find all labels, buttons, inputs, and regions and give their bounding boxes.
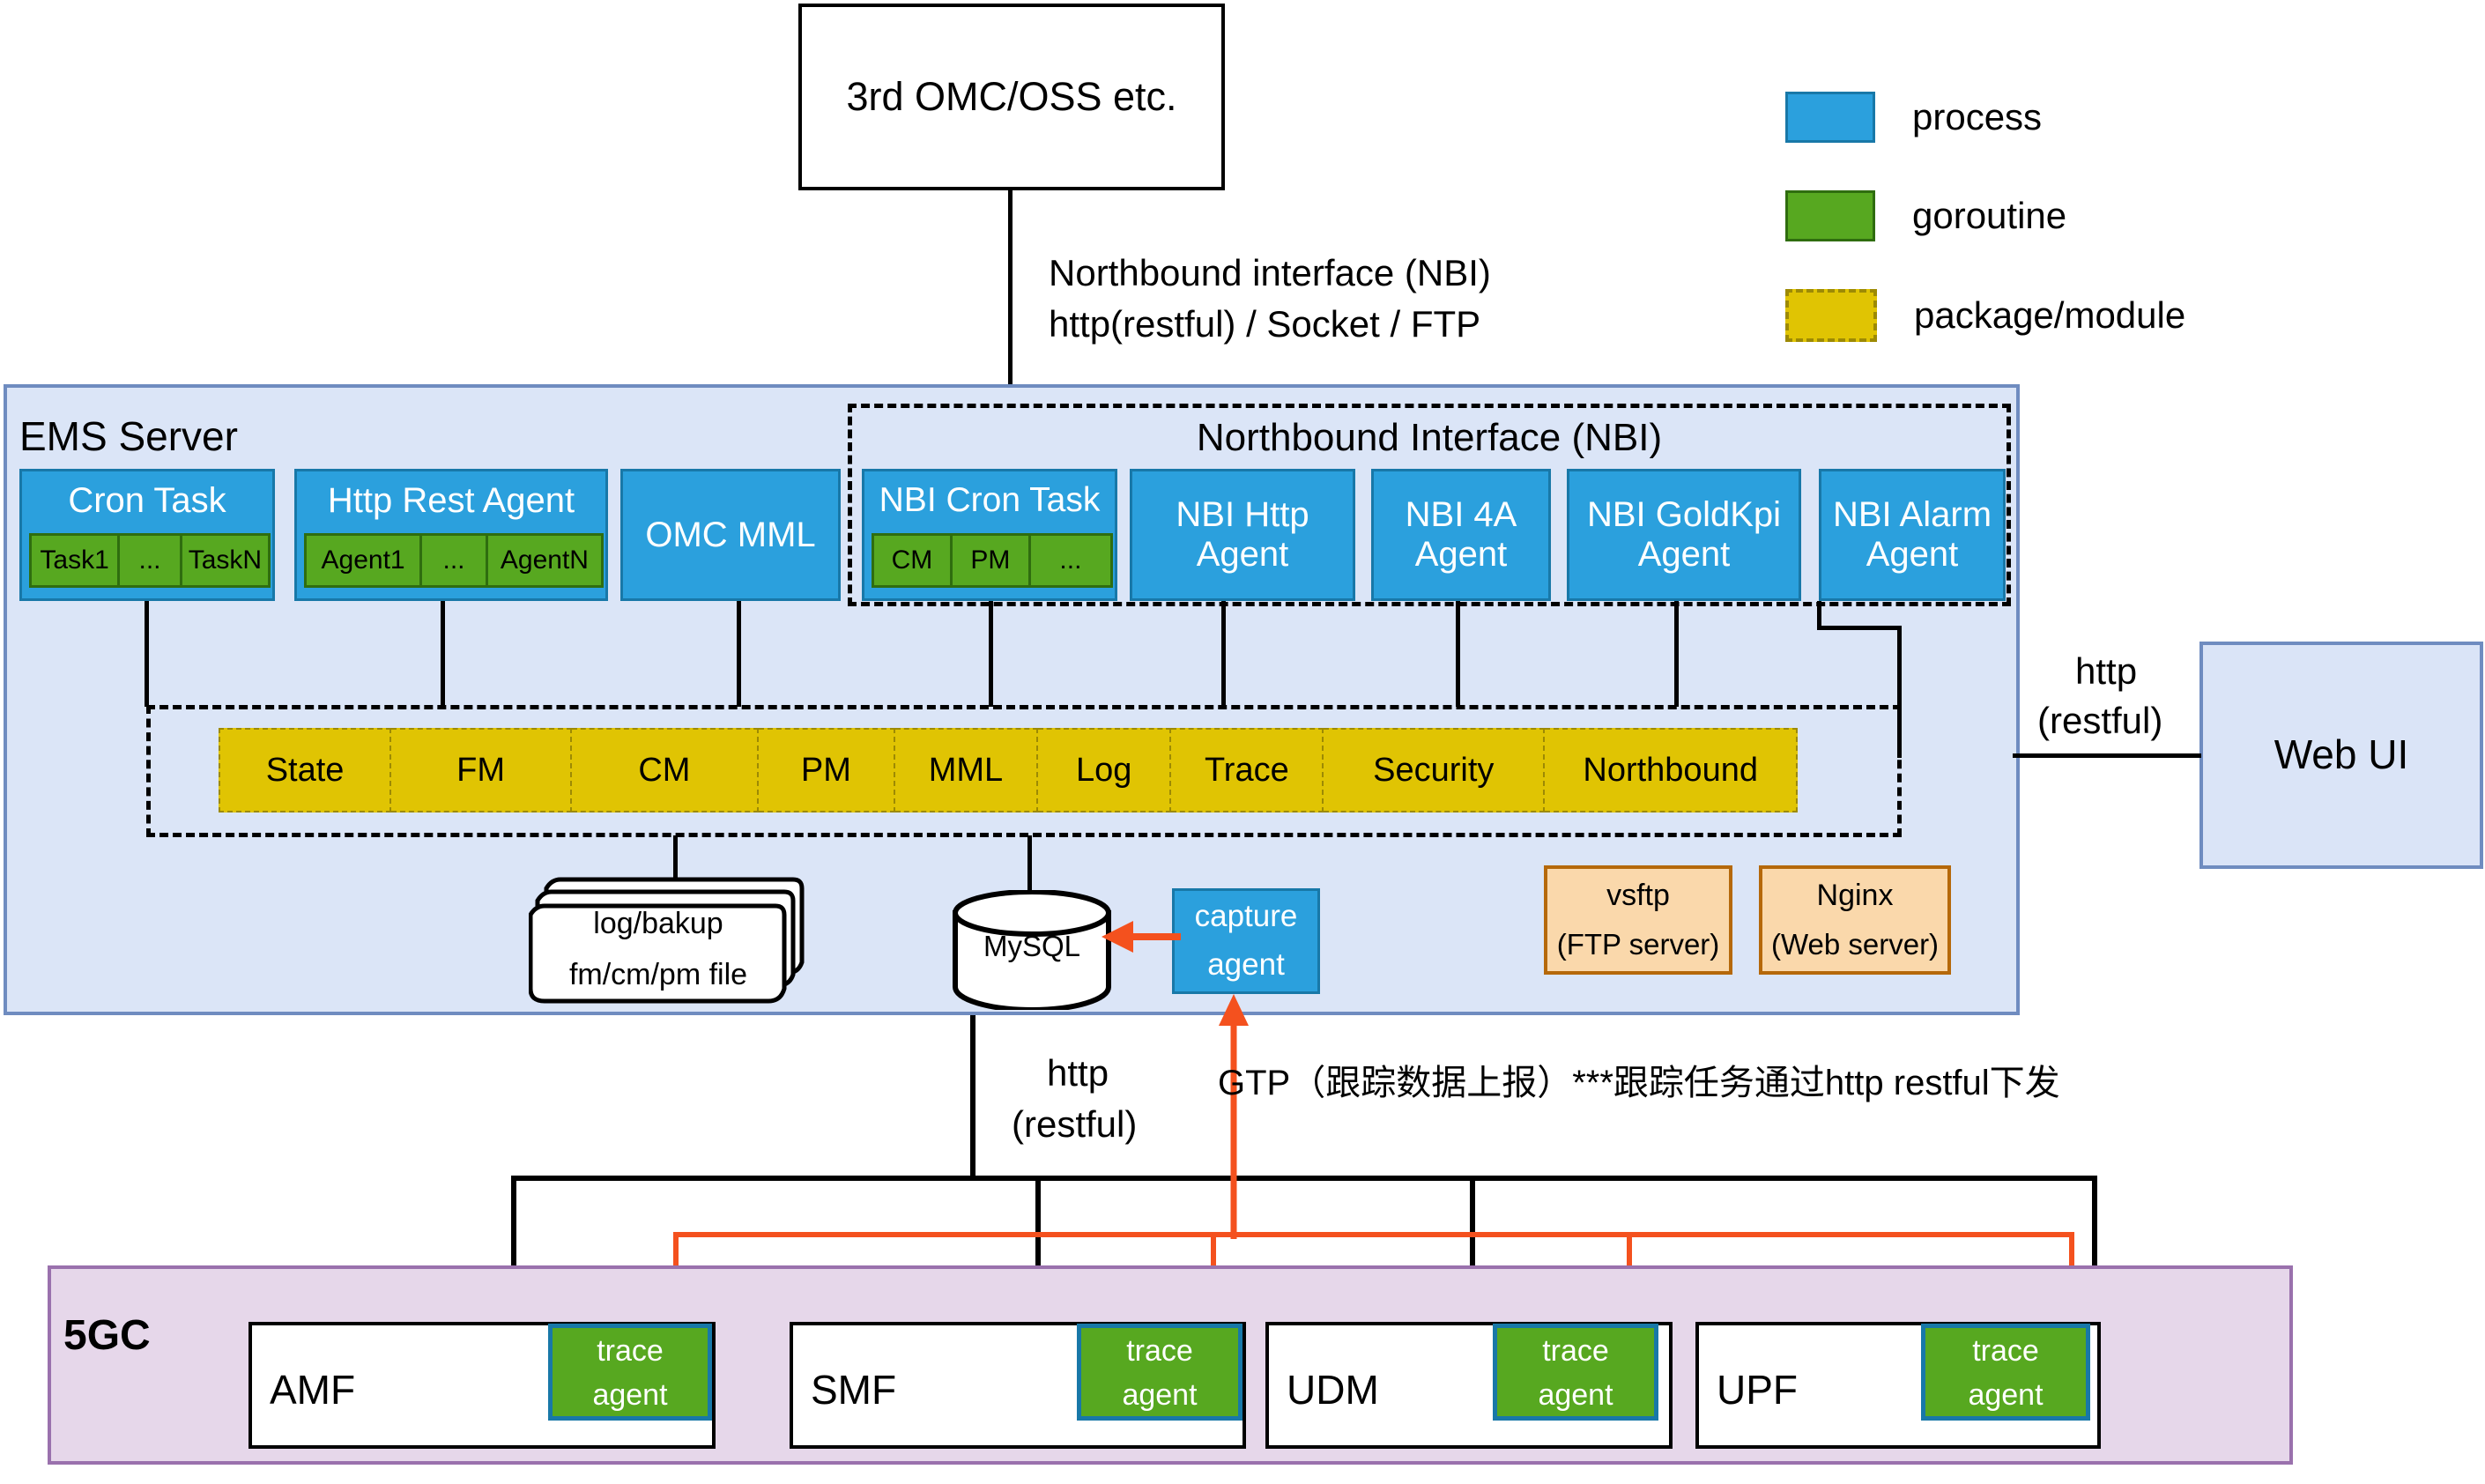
goroutine-strip-cron-task: Task1 ... TaskN	[29, 533, 271, 588]
process-capture-agent[interactable]: capture agent	[1172, 888, 1320, 994]
core-http-bus	[511, 1176, 2097, 1181]
legend-swatch-process	[1785, 92, 1875, 143]
process-cron-task[interactable]: Cron Task Task1 ... TaskN	[19, 469, 275, 601]
goroutine-item[interactable]: PM	[953, 533, 1031, 588]
vsftp-label-line2: (FTP server)	[1547, 922, 1729, 968]
nginx-server-box: Nginx (Web server)	[1759, 865, 1951, 975]
process-nbi-goldkpi-agent-label: NBI GoldKpi Agent	[1569, 495, 1799, 575]
legend-row-goroutine: goroutine	[1785, 190, 2066, 241]
module-state[interactable]: State	[219, 728, 391, 812]
goroutine-item[interactable]: ...	[120, 533, 182, 588]
module-fm[interactable]: FM	[391, 728, 572, 812]
capture-agent-label-line2: agent	[1175, 942, 1317, 988]
nf-label-udm: UDM	[1287, 1366, 1379, 1414]
nginx-label-line1: Nginx	[1762, 869, 1947, 922]
nbi-group-title: Northbound Interface (NBI)	[848, 411, 2011, 465]
trace-agent-udm-line2: agent	[1497, 1374, 1654, 1416]
mysql-label: MySQL	[950, 929, 1114, 964]
diagram-canvas: 3rd OMC/OSS etc. Northbound interface (N…	[0, 0, 2485, 1484]
core-5gc-title: 5GC	[63, 1311, 151, 1360]
core-http-label-line2: (restful)	[1012, 1103, 1137, 1146]
web-ui-connection-label-line2: (restful)	[2037, 700, 2162, 742]
connector-nbi-4a-agent-to-modules	[1456, 601, 1460, 707]
nf-label-smf: SMF	[811, 1366, 896, 1414]
nf-label-upf: UPF	[1717, 1366, 1798, 1414]
process-nbi-alarm-agent[interactable]: NBI Alarm Agent	[1819, 469, 2006, 601]
goroutine-strip-http-rest-agent: Agent1 ... AgentN	[304, 533, 604, 588]
core-gtp-bus	[673, 1232, 2074, 1237]
trace-agent-upf-line2: agent	[1925, 1374, 2086, 1416]
goroutine-item[interactable]: Agent1	[304, 533, 422, 588]
process-nbi-cron-task-label: NBI Cron Task	[864, 471, 1115, 530]
web-ui-label: Web UI	[2274, 732, 2409, 778]
connector-nbi-cron-task-to-modules	[989, 601, 993, 707]
module-pm[interactable]: PM	[759, 728, 895, 812]
trace-agent-upf-line1: trace	[1925, 1328, 2086, 1374]
vsftp-server-box: vsftp (FTP server)	[1544, 865, 1732, 975]
ems-server-title: EMS Server	[19, 412, 238, 460]
trace-agent-amf-line1: trace	[553, 1328, 708, 1374]
connector-cron-task-to-modules	[145, 601, 149, 707]
trace-agent-amf-line2: agent	[553, 1374, 708, 1416]
connector-http-rest-agent-to-modules	[441, 601, 445, 707]
goroutine-item[interactable]: CM	[872, 533, 953, 588]
goroutine-item[interactable]: ...	[1031, 533, 1113, 588]
process-nbi-http-agent-label: NBI Http Agent	[1132, 495, 1353, 575]
legend-row-process: process	[1785, 92, 2042, 143]
trace-agent-smf-line2: agent	[1081, 1374, 1238, 1416]
nbi-connection-label-line2: http(restful) / Socket / FTP	[1049, 303, 1480, 345]
goroutine-item[interactable]: TaskN	[182, 533, 271, 588]
process-nbi-goldkpi-agent[interactable]: NBI GoldKpi Agent	[1567, 469, 1801, 601]
legend-swatch-goroutine	[1785, 190, 1875, 241]
process-nbi-http-agent[interactable]: NBI Http Agent	[1130, 469, 1355, 601]
goroutine-item[interactable]: AgentN	[488, 533, 604, 588]
module-cm[interactable]: CM	[572, 728, 759, 812]
core-http-label-line1: http	[1047, 1052, 1109, 1094]
file-store-label-line1: log/bakup	[539, 906, 777, 941]
legend-label-process: process	[1912, 96, 2042, 138]
arrow-capture-agent-to-mysql	[1100, 915, 1181, 959]
process-omc-mml[interactable]: OMC MML	[620, 469, 841, 601]
connector-nbi-http-agent-to-modules	[1221, 601, 1226, 707]
module-northbound[interactable]: Northbound	[1545, 728, 1798, 812]
process-nbi-4a-agent[interactable]: NBI 4A Agent	[1371, 469, 1551, 601]
nf-label-amf: AMF	[270, 1366, 355, 1414]
third-party-omc-oss-label: 3rd OMC/OSS etc.	[846, 75, 1176, 119]
trace-agent-udm[interactable]: trace agent	[1493, 1324, 1658, 1421]
arrow-gtp-to-capture-agent	[1207, 992, 1260, 1239]
module-security[interactable]: Security	[1324, 728, 1545, 812]
trace-agent-udm-line1: trace	[1497, 1328, 1654, 1374]
trace-agent-smf-line1: trace	[1081, 1328, 1238, 1374]
legend-label-goroutine: goroutine	[1912, 195, 2066, 237]
trace-agent-amf[interactable]: trace agent	[548, 1324, 712, 1421]
vsftp-label-line1: vsftp	[1547, 869, 1729, 922]
module-trace[interactable]: Trace	[1171, 728, 1324, 812]
nbi-connection-label-line1: Northbound interface (NBI)	[1049, 252, 1491, 294]
gtp-annotation: GTP（跟踪数据上报）***跟踪任务通过http restful下发	[1218, 1054, 2060, 1105]
web-ui-box[interactable]: Web UI	[2199, 642, 2483, 869]
process-nbi-cron-task[interactable]: NBI Cron Task CM PM ...	[862, 469, 1117, 601]
capture-agent-label-line1: capture	[1175, 891, 1317, 942]
file-store-label-line2: fm/cm/pm file	[530, 957, 786, 992]
web-ui-connection-label-line1: http	[2075, 650, 2137, 693]
nginx-label-line2: (Web server)	[1762, 922, 1947, 968]
module-log[interactable]: Log	[1038, 728, 1171, 812]
connector-nbi-goldkpi-agent-to-modules	[1674, 601, 1679, 707]
legend-label-module: package/module	[1914, 294, 2185, 337]
connector-omc-mml-to-modules	[737, 601, 741, 707]
connector-log-module-to-mysql	[1027, 835, 1032, 895]
process-nbi-4a-agent-label: NBI 4A Agent	[1374, 495, 1548, 575]
process-cron-task-label: Cron Task	[22, 471, 272, 530]
goroutine-strip-nbi-cron-task: CM PM ...	[872, 533, 1113, 588]
trace-agent-upf[interactable]: trace agent	[1921, 1324, 2090, 1421]
process-nbi-alarm-agent-label: NBI Alarm Agent	[1821, 495, 2003, 575]
process-omc-mml-label: OMC MML	[645, 516, 815, 555]
connector-nbi-alarm-agent-horz	[1817, 626, 1902, 630]
connector-ems-to-web-ui	[2013, 753, 2201, 758]
goroutine-item[interactable]: Task1	[29, 533, 120, 588]
process-http-rest-agent[interactable]: Http Rest Agent Agent1 ... AgentN	[294, 469, 608, 601]
goroutine-item[interactable]: ...	[422, 533, 488, 588]
module-bar: State FM CM PM MML Log Trace Security No…	[219, 728, 1798, 812]
connector-ems-to-core-trunk	[970, 1015, 975, 1179]
legend-row-module: package/module	[1785, 289, 2185, 342]
process-http-rest-agent-label: Http Rest Agent	[297, 471, 605, 530]
third-party-omc-oss-box: 3rd OMC/OSS etc.	[798, 4, 1225, 190]
connector-omc-to-ems	[1008, 190, 1013, 389]
trace-agent-smf[interactable]: trace agent	[1077, 1324, 1242, 1421]
module-mml[interactable]: MML	[895, 728, 1038, 812]
legend: process goroutine package/module	[1785, 92, 2385, 321]
legend-swatch-module	[1785, 289, 1877, 342]
